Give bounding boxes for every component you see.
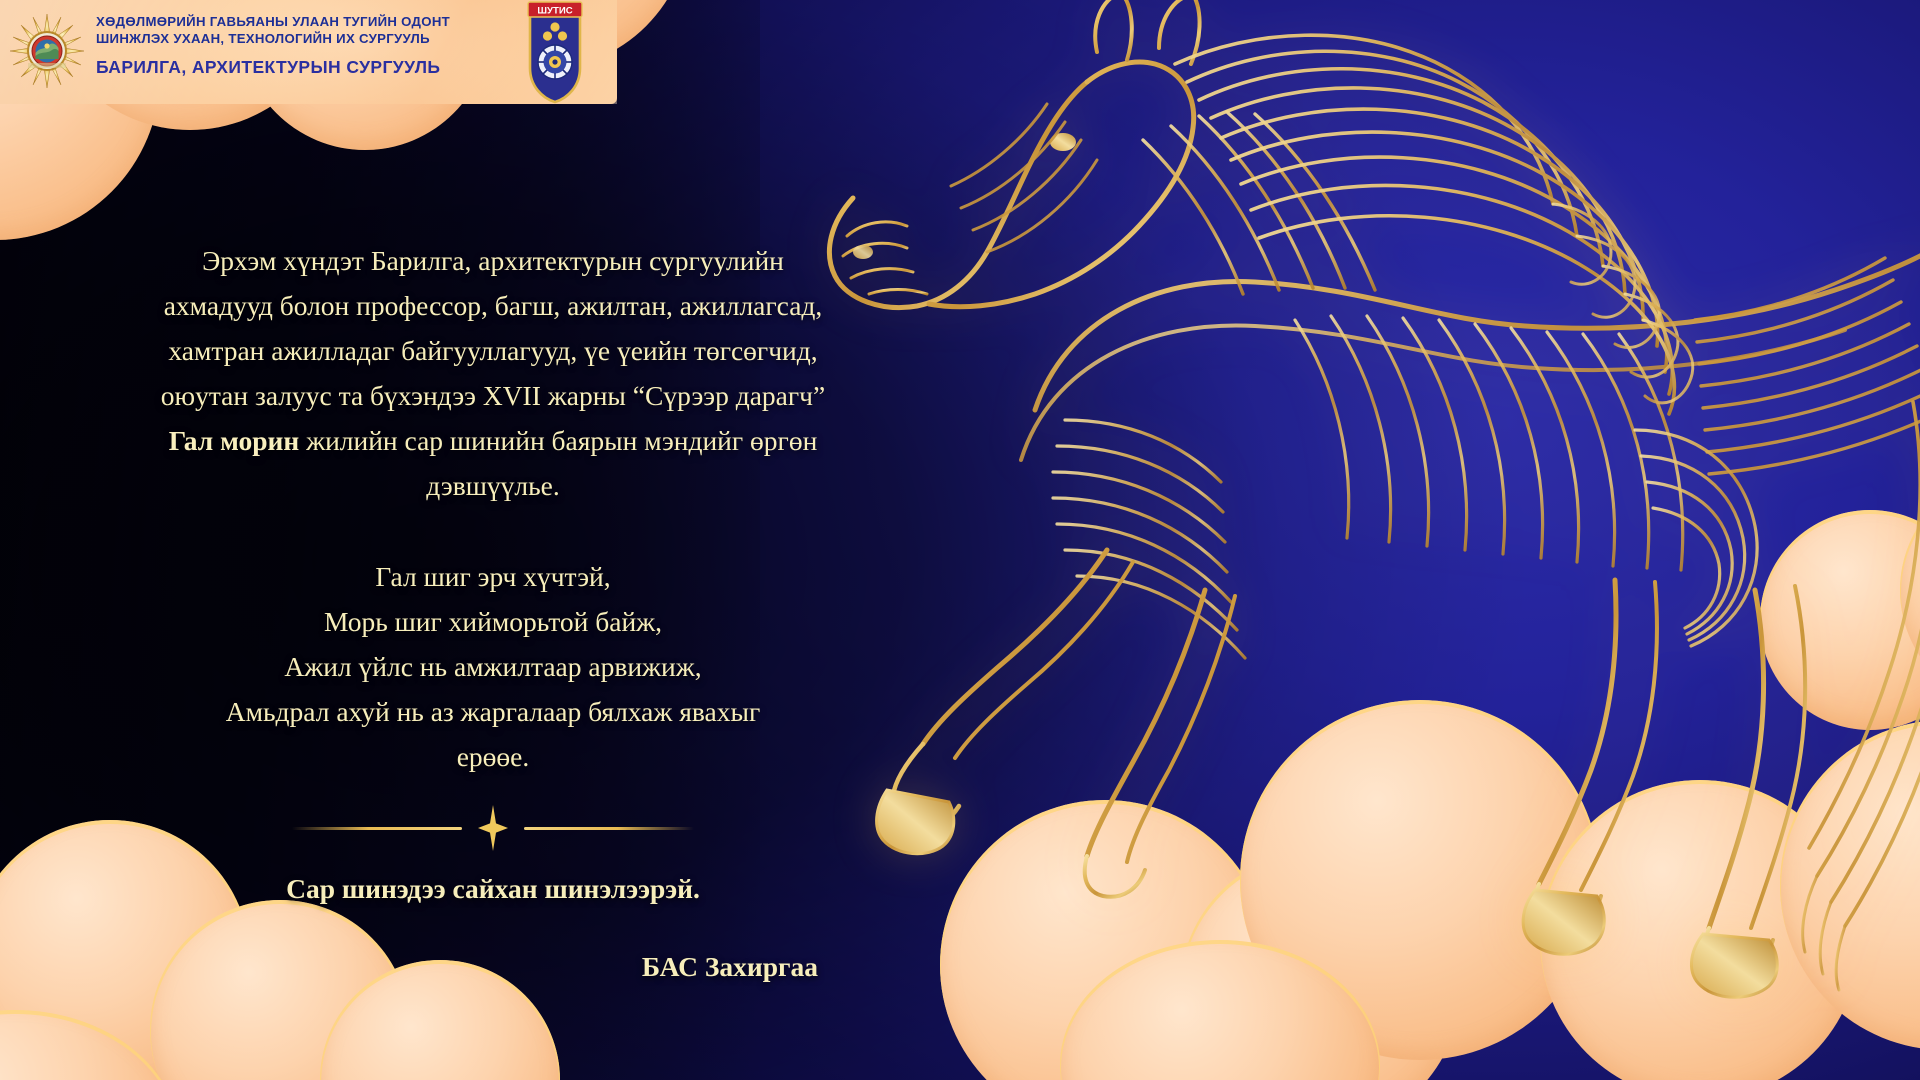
shutis-badge-label: ШУТИС xyxy=(537,5,572,16)
header-text-group: ХӨДӨЛМӨРИЙН ГАВЬЯАНЫ УЛААН ТУГИЙН ОДОНТ … xyxy=(96,13,496,78)
greeting-line-2: ахмадууд болон профессор, багш, ажилтан,… xyxy=(164,290,823,321)
paragraph-gap xyxy=(28,508,958,554)
poem-line-4: Амьдрал ахуй нь аз жаргалаар бялхаж явах… xyxy=(226,696,761,727)
blessing-poem: Гал шиг эрч хүчтэй, Морь шиг хийморьтой … xyxy=(28,554,958,779)
header-line-3-school: БАРИЛГА, АРХИТЕКТУРЫН СУРГУУЛЬ xyxy=(96,57,496,78)
ornamental-divider xyxy=(28,805,958,851)
greeting-bold-phrase: Гал морин xyxy=(169,425,299,456)
greeting-line-3: хамтран ажилладаг байгууллагууд, үе үеий… xyxy=(168,335,817,366)
greeting-line-4: оюутан залуус та бүхэндээ XVII жарны “Сү… xyxy=(161,380,825,411)
greeting-paragraph: Эрхэм хүндэт Барилга, архитектурын сургу… xyxy=(28,238,958,508)
closing-greeting: Сар шинэдээ сайхан шинэлээрэй. xyxy=(28,873,958,905)
poem-line-2: Морь шиг хийморьтой байж, xyxy=(324,606,662,637)
greeting-line-5: жилийн сар шинийн баярын мэндийг өргөн xyxy=(299,425,817,456)
shutis-badge-icon: ШУТИС xyxy=(524,0,586,106)
poem-line-3: Ажил үйлс нь амжилтаар арвижиж, xyxy=(284,651,701,682)
order-medal-icon xyxy=(8,12,86,90)
greeting-line-1: Эрхэм хүндэт Барилга, архитектурын сургу… xyxy=(202,245,784,276)
header-line-1: ХӨДӨЛМӨРИЙН ГАВЬЯАНЫ УЛААН ТУГИЙН ОДОНТ xyxy=(96,13,496,30)
divider-line-left xyxy=(292,827,462,830)
header-line-2: ШИНЖЛЭХ УХААН, ТЕХНОЛОГИЙН ИХ СУРГУУЛЬ xyxy=(96,30,496,47)
poster-canvas: ХӨДӨЛМӨРИЙН ГАВЬЯАНЫ УЛААН ТУГИЙН ОДОНТ … xyxy=(0,0,1920,1080)
greeting-message-block: Эрхэм хүндэт Барилга, архитектурын сургу… xyxy=(28,238,958,983)
greeting-line-6: дэвшүүлье. xyxy=(426,470,560,501)
divider-line-right xyxy=(524,827,694,830)
signature: БАС Захиргаа xyxy=(28,951,958,983)
four-point-sparkle-icon xyxy=(478,805,508,851)
poem-line-1: Гал шиг эрч хүчтэй, xyxy=(375,561,610,592)
poem-line-5: ерөөе. xyxy=(457,741,530,772)
university-header-banner: ХӨДӨЛМӨРИЙН ГАВЬЯАНЫ УЛААН ТУГИЙН ОДОНТ … xyxy=(0,0,617,104)
